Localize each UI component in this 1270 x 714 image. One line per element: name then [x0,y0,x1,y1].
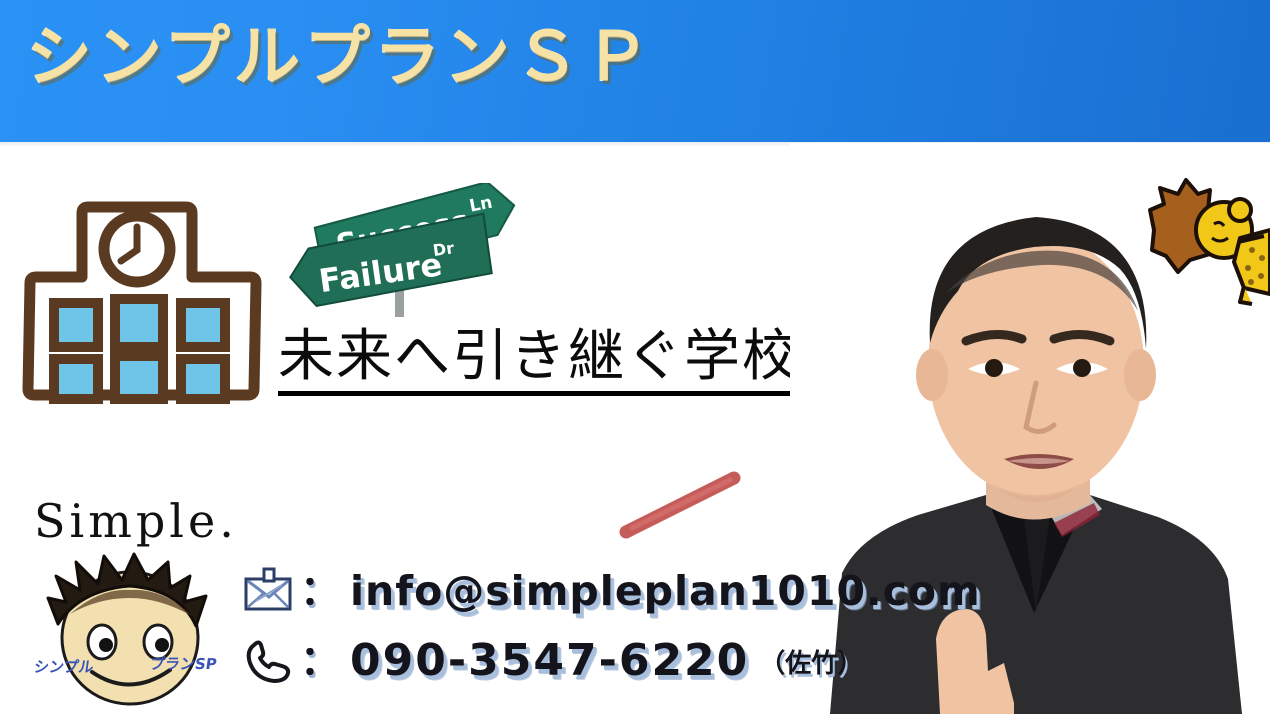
contact-row-phone: ： 090-3547-6220 （佐竹） [242,626,1002,696]
phone-handset-icon [242,637,298,685]
envelope-icon [242,567,298,615]
email-address[interactable]: info@simpleplan1010.com [350,571,981,612]
red-pointer-stick-icon [612,470,752,540]
phone-contact-name: （佐竹） [759,643,863,680]
headline-text: 未来へ引き継ぐ学校 [278,326,878,389]
logo-wordmark: Simple. [34,498,238,544]
brand-logo: Simple. シンプル プランSP [22,498,236,710]
headline-block: 未来へ引き継ぐ学校 [278,326,878,396]
svg-text:Dr: Dr [432,238,456,260]
page-title: シンプルプランＳＰ [26,24,654,90]
headline-underline [278,391,860,396]
street-sign-icon: Success Ln Failure Dr [283,183,533,318]
phone-separator: ： [300,641,340,681]
contact-row-email: ： info@simpleplan1010.com [242,556,1002,626]
header-banner: シンプルプランＳＰ [0,0,1270,142]
phone-number[interactable]: 090-3547-6220 [350,639,749,683]
school-building-icon [14,183,266,415]
caveman-clipart-icon [1148,176,1270,308]
cartoon-face-icon [30,546,230,710]
slide-canvas: シンプルプランＳＰ [0,0,1270,714]
logo-kana-left: シンプル [33,656,96,677]
contact-block: ： info@simpleplan1010.com ： 090-3547-622… [242,556,1002,696]
logo-kana-right: プランSP [149,653,219,674]
email-separator: ： [300,571,340,611]
